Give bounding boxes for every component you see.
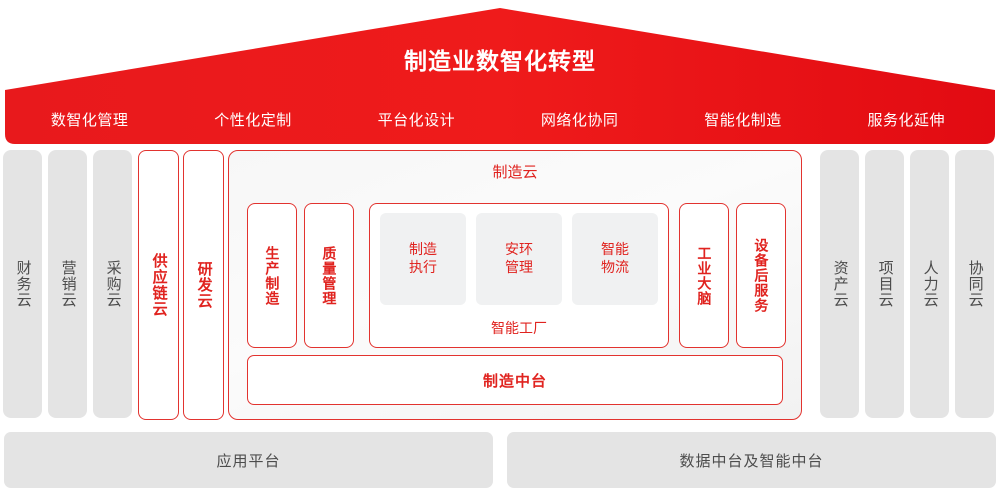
banner-label-2[interactable]: 平台化设计 bbox=[335, 109, 498, 130]
footer-bar-application-platform[interactable]: 应用平台 bbox=[4, 432, 493, 488]
sub-box-label-0: 生产制造 bbox=[264, 246, 281, 306]
banner-label-4[interactable]: 智能化制造 bbox=[661, 109, 824, 130]
factory-card-line2-1: 管理 bbox=[505, 259, 533, 275]
sub-box-label-2: 工业大脑 bbox=[696, 246, 713, 306]
left-column-label-2: 采购云 bbox=[103, 260, 121, 308]
sub-box-label-1: 质量管理 bbox=[321, 246, 338, 306]
footer-bar-data-and-ai-platform[interactable]: 数据中台及智能中台 bbox=[507, 432, 996, 488]
factory-card-line2-0: 执行 bbox=[409, 259, 437, 275]
right-column-label-3: 协同云 bbox=[965, 260, 983, 308]
factory-card-line1-2: 智能 bbox=[601, 241, 629, 257]
right-column-collaboration-cloud[interactable]: 协同云 bbox=[955, 150, 994, 418]
banner-label-5[interactable]: 服务化延伸 bbox=[825, 109, 988, 130]
right-column-label-2: 人力云 bbox=[920, 260, 938, 308]
factory-card-line1-1: 安环 bbox=[505, 241, 533, 257]
left-column-label-0: 财务云 bbox=[13, 260, 31, 308]
right-column-label-1: 项目云 bbox=[875, 260, 893, 308]
left-column-finance-cloud[interactable]: 财务云 bbox=[3, 150, 42, 418]
diagram-title: 制造业数智化转型 bbox=[0, 42, 1000, 76]
left-column-marketing-cloud[interactable]: 营销云 bbox=[48, 150, 87, 418]
right-column-hr-cloud[interactable]: 人力云 bbox=[910, 150, 949, 418]
architecture-diagram: 制造业数智化转型 数智化管理 个性化定制 平台化设计 网络化协同 智能化制造 服… bbox=[0, 0, 1000, 492]
sub-box-equipment-after-service[interactable]: 设备后服务 bbox=[736, 203, 786, 348]
banner-label-0[interactable]: 数智化管理 bbox=[8, 109, 171, 130]
right-column-label-0: 资产云 bbox=[830, 260, 848, 308]
sub-box-quality-management[interactable]: 质量管理 bbox=[304, 203, 354, 348]
manufacturing-middle-platform-bar[interactable]: 制造中台 bbox=[247, 355, 783, 405]
left-column-procurement-cloud[interactable]: 采购云 bbox=[93, 150, 132, 418]
factory-card-line1-0: 制造 bbox=[409, 241, 437, 257]
factory-card-safety-environment[interactable]: 安环 管理 bbox=[476, 213, 562, 305]
left-column-label-4: 研发云 bbox=[194, 261, 212, 309]
left-column-rnd-cloud[interactable]: 研发云 bbox=[183, 150, 224, 420]
sub-box-production-manufacturing[interactable]: 生产制造 bbox=[247, 203, 297, 348]
left-column-label-3: 供应链云 bbox=[149, 253, 167, 317]
manufacturing-cloud-panel[interactable]: 制造云 生产制造 质量管理 制造 执行 安环 bbox=[228, 150, 802, 420]
factory-card-line2-2: 物流 bbox=[601, 259, 629, 275]
sub-box-label-3: 设备后服务 bbox=[753, 238, 770, 313]
manufacturing-cloud-title: 制造云 bbox=[229, 161, 801, 182]
smart-factory-panel[interactable]: 制造 执行 安环 管理 智能 物流 bbox=[369, 203, 669, 348]
banner-label-row: 数智化管理 个性化定制 平台化设计 网络化协同 智能化制造 服务化延伸 bbox=[8, 103, 988, 135]
factory-card-smart-logistics[interactable]: 智能 物流 bbox=[572, 213, 658, 305]
banner-label-1[interactable]: 个性化定制 bbox=[171, 109, 334, 130]
smart-factory-title: 智能工厂 bbox=[370, 318, 668, 338]
banner-label-3[interactable]: 网络化协同 bbox=[498, 109, 661, 130]
left-column-label-1: 营销云 bbox=[58, 260, 76, 308]
smart-factory-card-row: 制造 执行 安环 管理 智能 物流 bbox=[380, 213, 658, 305]
left-column-supply-chain-cloud[interactable]: 供应链云 bbox=[138, 150, 179, 420]
right-column-asset-cloud[interactable]: 资产云 bbox=[820, 150, 859, 418]
middle-band: 财务云 营销云 采购云 供应链云 研发云 制造云 生产制造 质量管理 bbox=[0, 150, 1000, 426]
factory-card-manufacturing-execution[interactable]: 制造 执行 bbox=[380, 213, 466, 305]
footer-bar-row: 应用平台 数据中台及智能中台 bbox=[0, 432, 1000, 488]
sub-box-industrial-brain[interactable]: 工业大脑 bbox=[679, 203, 729, 348]
right-column-project-cloud[interactable]: 项目云 bbox=[865, 150, 904, 418]
